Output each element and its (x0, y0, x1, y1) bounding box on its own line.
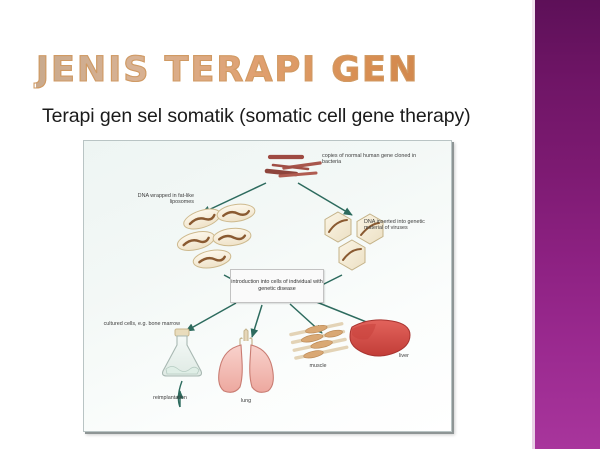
label-gene-copies: copies of normal human gene cloned in ba… (322, 153, 432, 166)
lung-icon (219, 329, 274, 392)
muscle-icon (290, 321, 347, 361)
slide-subtitle: Terapi gen sel somatik (somatic cell gen… (42, 105, 512, 128)
label-liposomes: DNA wrapped in fat-like liposomes (120, 193, 194, 206)
gene-therapy-diagram-panel: copies of normal human gene cloned in ba… (83, 140, 452, 432)
liver-icon (350, 320, 410, 356)
arrow-center-to-lung (252, 305, 262, 337)
label-muscle: muscle (289, 363, 347, 369)
page-title: JENIS TERAPI GEN (36, 48, 496, 92)
liposomes-icon (176, 202, 256, 271)
page-title-container: JENIS TERAPI GEN (36, 48, 496, 92)
label-viruses: DNA inserted into genetic material of vi… (364, 219, 442, 232)
gene-fragments-icon (267, 157, 320, 176)
flask-icon (163, 329, 202, 376)
label-lung: lung (219, 398, 273, 404)
center-process-box: introduction into cells of individual wi… (230, 269, 324, 303)
label-liver: liver (399, 353, 439, 359)
arrow-center-to-cultured-cells (186, 303, 236, 331)
center-process-text: introduction into cells of individual wi… (231, 279, 323, 292)
label-reimplantation: reimplantation (122, 395, 218, 401)
purple-accent-band (535, 0, 600, 449)
arrow-gene-to-viruses (298, 183, 352, 215)
label-cultured-cells: cultured cells, e.g. bone marrow (98, 321, 180, 327)
